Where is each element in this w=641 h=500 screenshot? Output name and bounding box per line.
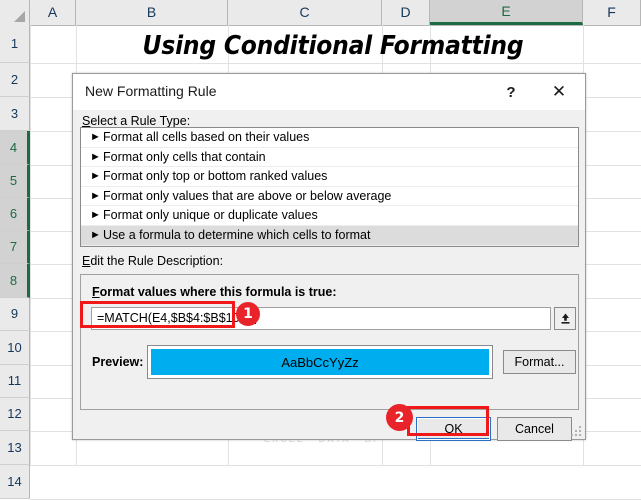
help-icon[interactable]: ? — [491, 74, 531, 110]
close-icon[interactable]: ✕ — [539, 74, 579, 110]
rule-type-list[interactable]: ►Format all cells based on their values►… — [80, 127, 579, 247]
annotation-box-ok — [407, 406, 489, 436]
preview-swatch: AaBbCcYyZz — [151, 349, 489, 375]
row-header-6[interactable]: 6 — [0, 198, 30, 231]
rule-bullet-icon: ► — [90, 148, 103, 168]
rule-bullet-icon: ► — [90, 187, 103, 207]
cancel-button[interactable]: Cancel — [497, 417, 572, 441]
column-header-b[interactable]: B — [76, 0, 228, 25]
row-header-7[interactable]: 7 — [0, 231, 30, 264]
gridline-horizontal — [30, 465, 641, 466]
dialog-title: New Formatting Rule — [85, 83, 217, 99]
annotation-badge-2: 2 — [386, 404, 413, 431]
row-header-2[interactable]: 2 — [0, 63, 30, 97]
range-select-button[interactable] — [554, 307, 576, 330]
rule-bullet-icon: ► — [90, 167, 103, 187]
preview-sample-text: AaBbCcYyZz — [281, 355, 358, 370]
annotation-badge-1: 1 — [236, 302, 260, 326]
format-button[interactable]: Format... — [503, 350, 576, 374]
rule-type-item[interactable]: ►Format only values that are above or be… — [81, 187, 578, 207]
annotation-box-formula — [80, 301, 235, 328]
row-header-11[interactable]: 11 — [0, 365, 30, 398]
rule-type-item[interactable]: ►Use a formula to determine which cells … — [81, 226, 578, 246]
edit-rule-description-label: Edit the Rule Description: — [82, 254, 223, 268]
row-header-13[interactable]: 13 — [0, 431, 30, 465]
rule-type-label: Format only unique or duplicate values — [103, 208, 318, 222]
rule-bullet-icon: ► — [90, 226, 103, 246]
preview-frame: AaBbCcYyZz — [147, 345, 493, 379]
rule-type-item[interactable]: ►Format all cells based on their values — [81, 128, 578, 148]
rule-description-panel: Format values where this formula is true… — [80, 274, 579, 410]
row-header-14[interactable]: 14 — [0, 465, 30, 499]
gridline-vertical — [30, 25, 31, 465]
page-title: Using Conditional Formatting — [76, 28, 590, 64]
rule-type-label: Format all cells based on their values — [103, 130, 309, 144]
row-header-3[interactable]: 3 — [0, 97, 30, 131]
row-header-9[interactable]: 9 — [0, 298, 30, 331]
rule-type-item[interactable]: ►Format only cells that contain — [81, 148, 578, 168]
row-header-10[interactable]: 10 — [0, 331, 30, 365]
resize-grip-icon[interactable] — [571, 426, 581, 436]
rule-type-label: Format only cells that contain — [103, 150, 266, 164]
column-header-d[interactable]: D — [382, 0, 430, 25]
column-header-a[interactable]: A — [30, 0, 76, 25]
select-all-button[interactable] — [0, 0, 30, 25]
rule-type-label: Use a formula to determine which cells t… — [103, 228, 370, 242]
dialog-titlebar[interactable]: New Formatting Rule ? ✕ — [73, 74, 585, 110]
column-header-e[interactable]: E — [430, 0, 583, 25]
formula-field-label: Format values where this formula is true… — [92, 285, 337, 299]
row-header-5[interactable]: 5 — [0, 165, 30, 198]
select-rule-type-label: Select a Rule Type: — [82, 114, 190, 128]
range-select-up-arrow-icon — [559, 312, 572, 325]
column-header-row: ABCDEF — [0, 0, 641, 26]
row-header-1[interactable]: 1 — [0, 25, 30, 63]
rule-type-item[interactable]: ►Format only top or bottom ranked values — [81, 167, 578, 187]
row-header-12[interactable]: 12 — [0, 398, 30, 431]
column-header-f[interactable]: F — [583, 0, 641, 25]
new-formatting-rule-dialog: New Formatting Rule ? ✕ Select a Rule Ty… — [72, 73, 586, 440]
select-all-triangle-icon — [14, 11, 25, 22]
column-header-c[interactable]: C — [228, 0, 382, 25]
rule-type-label: Format only top or bottom ranked values — [103, 169, 327, 183]
rule-type-item[interactable]: ►Format only unique or duplicate values — [81, 206, 578, 226]
rule-bullet-icon: ► — [90, 206, 103, 226]
row-header-8[interactable]: 8 — [0, 264, 30, 298]
rule-bullet-icon: ► — [90, 128, 103, 148]
preview-label: Preview: — [92, 355, 143, 369]
rule-type-label: Format only values that are above or bel… — [103, 189, 391, 203]
row-header-4[interactable]: 4 — [0, 131, 30, 165]
